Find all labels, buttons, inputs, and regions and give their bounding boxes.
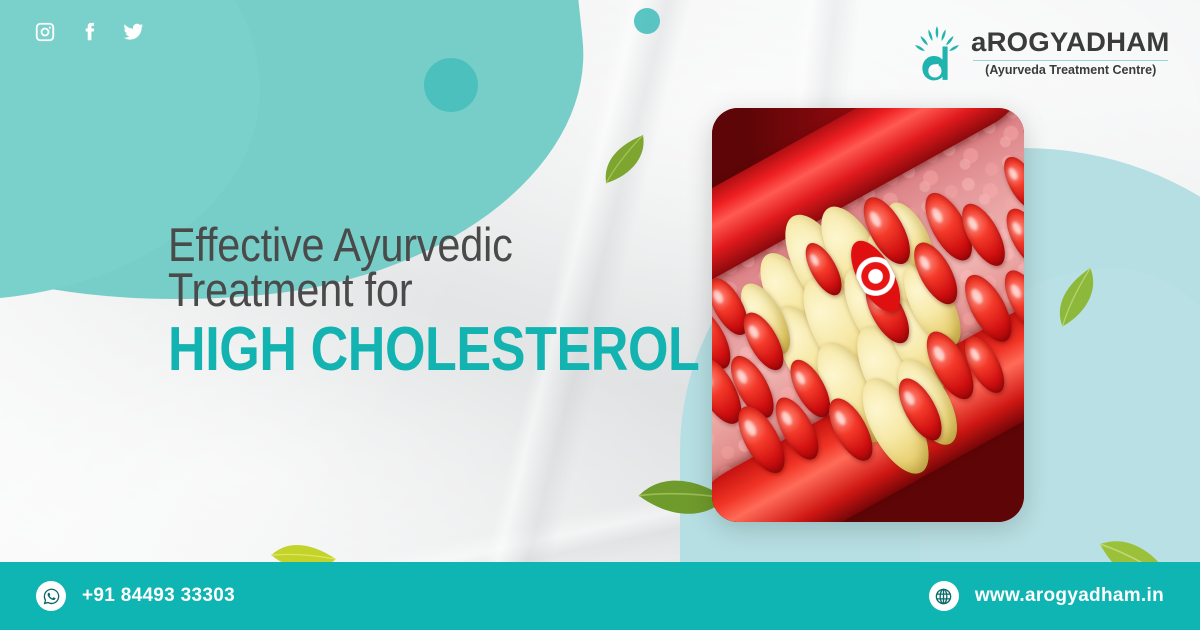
whatsapp-icon <box>36 581 66 611</box>
headline-line-1: Effective Ayurvedic <box>168 222 643 267</box>
facebook-icon[interactable] <box>78 20 100 44</box>
contact-footer-bar: +91 84493 33303 www.arogyadham.in <box>0 562 1200 630</box>
footer-phone[interactable]: +91 84493 33303 <box>36 581 235 611</box>
social-links <box>34 20 144 44</box>
globe-icon <box>929 581 959 611</box>
artery-cholesterol-illustration <box>712 108 1024 522</box>
website-url: www.arogyadham.in <box>975 585 1164 607</box>
twitter-icon[interactable] <box>122 20 144 44</box>
instagram-icon[interactable] <box>34 20 56 44</box>
footer-website[interactable]: www.arogyadham.in <box>929 581 1164 611</box>
teal-dot-small <box>634 8 660 34</box>
phone-number: +91 84493 33303 <box>82 585 235 607</box>
promo-banner: aROGYADHAM (Ayurveda Treatment Centre) E… <box>0 0 1200 630</box>
logo-divider <box>973 60 1168 61</box>
logo-wordmark: aROGYADHAM <box>972 29 1170 56</box>
teal-dot-large <box>424 58 478 112</box>
headline-block: Effective Ayurvedic Treatment for HIGH C… <box>168 222 708 381</box>
ayurveda-leaf-a-icon <box>912 22 962 84</box>
headline-line-2: Treatment for <box>168 267 643 312</box>
logo-tagline: (Ayurveda Treatment Centre) <box>985 64 1156 77</box>
brand-logo[interactable]: aROGYADHAM (Ayurveda Treatment Centre) <box>912 22 1168 84</box>
headline-accent: HIGH CHOLESTEROL <box>168 318 622 381</box>
